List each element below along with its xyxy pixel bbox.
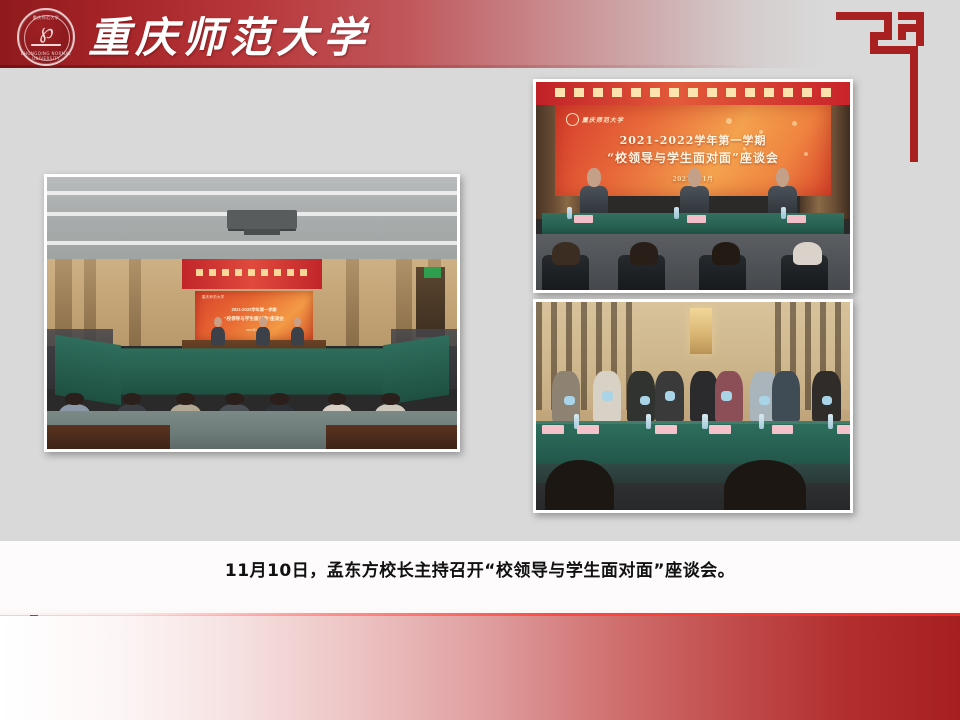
seal-glyph: ℘ (19, 21, 73, 42)
presidium-person (256, 327, 270, 346)
screen-logo-text: 重庆师范大学 (582, 115, 624, 124)
slide-caption: 11月10日，孟东方校长主持召开“校领导与学生面对面”座谈会。 (0, 556, 960, 581)
foreground-table-right (326, 425, 457, 449)
exit-sign-icon (424, 267, 440, 278)
ceiling-projector (227, 210, 297, 229)
screen-university-logo: 重庆师范大学 (566, 113, 624, 126)
photo-conference-room-wide[interactable]: 重庆师范大学 2021-2022学年第一学期 “校领导与学生面对面”座谈会 20… (44, 174, 460, 452)
photo-students-seated[interactable] (533, 299, 853, 513)
screen-seal-icon (566, 113, 579, 126)
foreground-table-left (47, 425, 170, 449)
presidium-person (291, 327, 305, 346)
wall-lamp (690, 308, 712, 354)
screen-line-1: 2021-2022学年第一学期 (555, 132, 831, 148)
audience-foreground (536, 234, 850, 290)
overhead-led-banner (182, 259, 321, 289)
university-seal-icon: 重庆师范大学 ℘ CHONGQING NORMAL UNIVERSITY (17, 8, 75, 66)
screen-logo-text: 重庆师范大学 (202, 295, 225, 300)
photo-presidium-led-screen[interactable]: 重庆师范大学 2021-2022学年第一学期 “校领导与学生面对面”座谈会 20… (533, 79, 853, 293)
footer-gradient-band (0, 616, 960, 720)
upper-led-banner (536, 82, 850, 105)
presidium-person (211, 327, 225, 346)
screen-line-1: 2021-2022学年第一学期 (195, 307, 314, 313)
seal-arc-bottom-text: CHONGQING NORMAL UNIVERSITY (19, 51, 73, 61)
slide-canvas: 重庆师范大学 ℘ CHONGQING NORMAL UNIVERSITY 重庆师… (0, 0, 960, 720)
university-name-title: 重庆师范大学 (88, 4, 370, 64)
screen-line-2: “校领导与学生面对面”座谈会 (555, 149, 831, 166)
